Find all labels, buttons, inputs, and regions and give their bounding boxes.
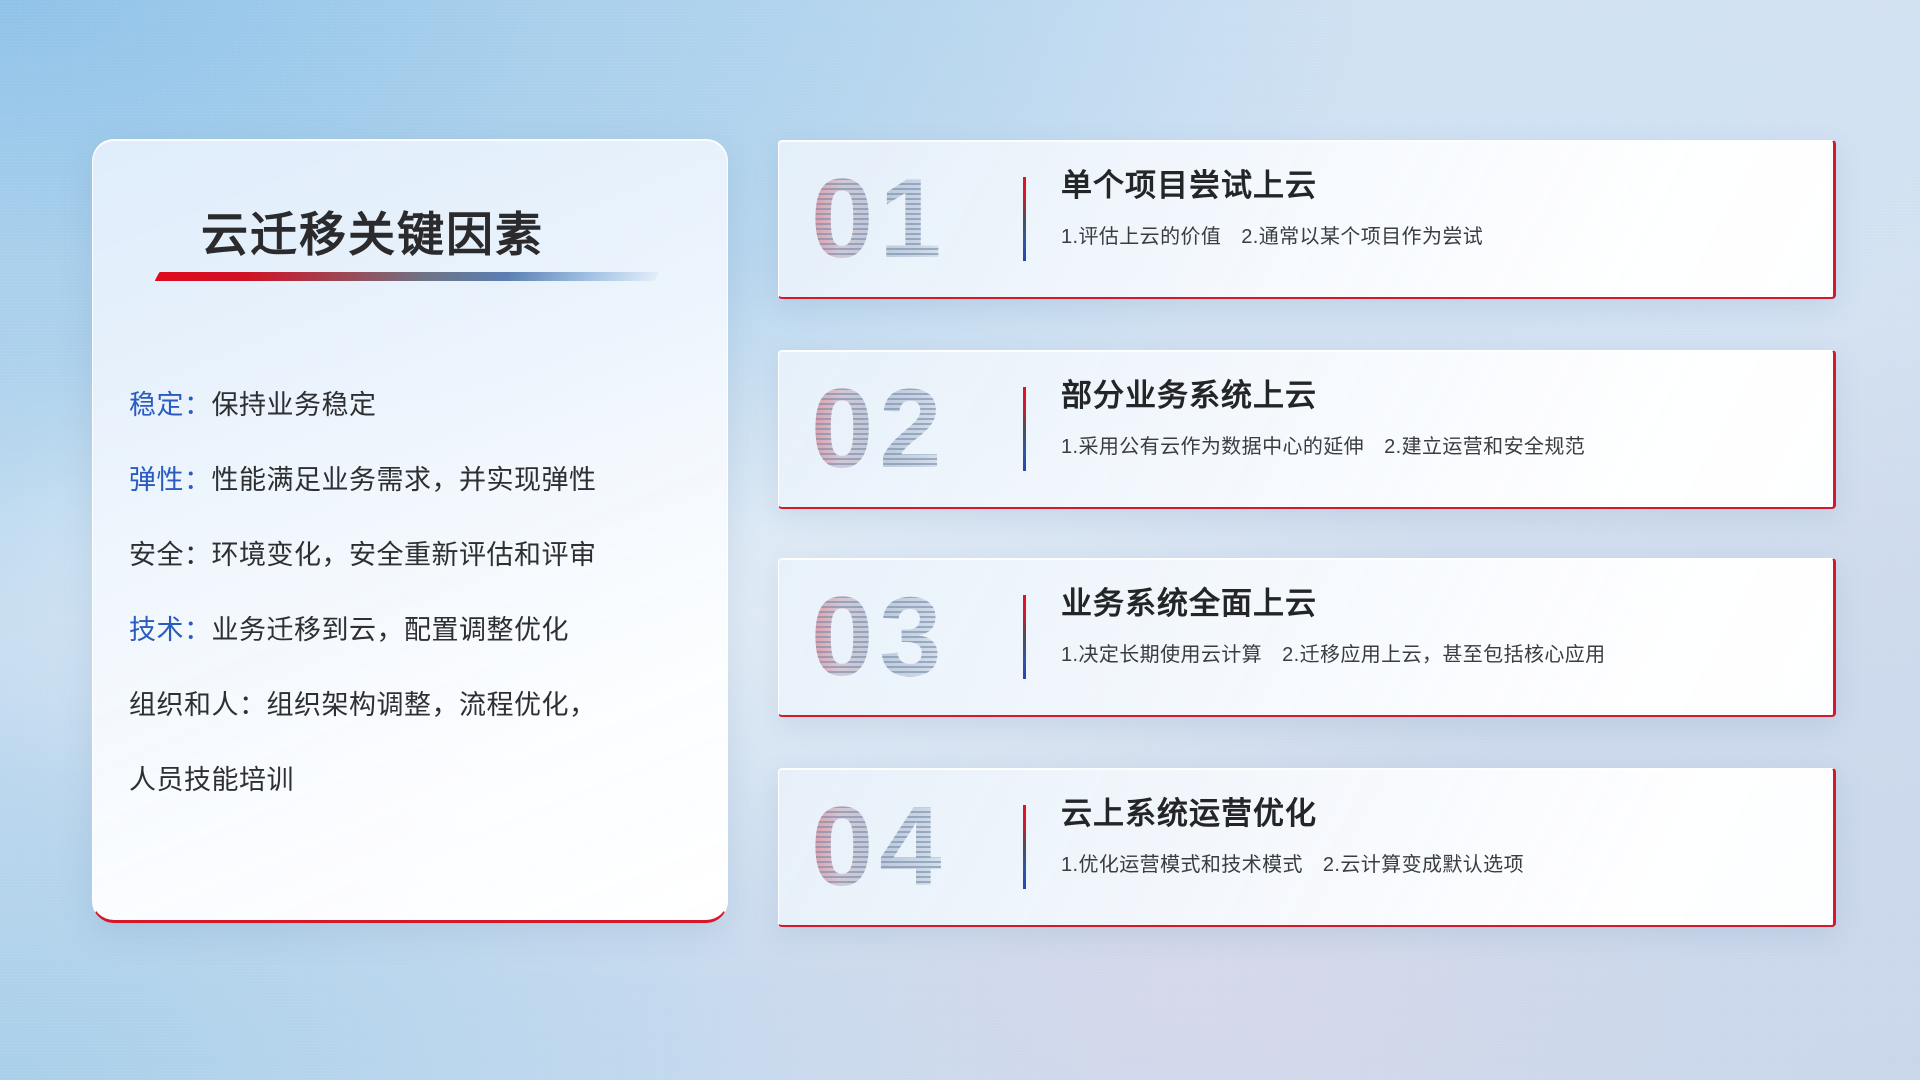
step-divider-line bbox=[1023, 177, 1026, 261]
list-item: 稳定：保持业务稳定 bbox=[129, 368, 701, 443]
factor-key: 稳定： bbox=[129, 390, 212, 420]
step-subtitle: 1.优化运营模式和技术模式2.云计算变成默认选项 bbox=[1061, 848, 1799, 877]
step-point-2: 2.迁移应用上云，甚至包括核心应用 bbox=[1282, 644, 1605, 666]
step-number-watermark: 04 bbox=[811, 791, 948, 903]
step-point-1: 1.采用公有云作为数据中心的延伸 bbox=[1061, 436, 1364, 458]
list-item: 弹性：性能满足业务需求，并实现弹性 bbox=[129, 443, 701, 518]
step-card-01[interactable]: 01 单个项目尝试上云 1.评估上云的价值2.通常以某个项目作为尝试 bbox=[778, 140, 1836, 299]
step-divider-line bbox=[1023, 805, 1026, 889]
step-divider-line bbox=[1023, 387, 1026, 471]
list-item: 安全：环境变化，安全重新评估和评审 bbox=[129, 518, 701, 593]
page-title: 云迁移关键因素 bbox=[201, 196, 544, 265]
step-title: 云上系统运营优化 bbox=[1061, 795, 1799, 834]
factor-value: 性能满足业务需求，并实现弹性 bbox=[212, 465, 597, 495]
step-text-block: 业务系统全面上云 1.决定长期使用云计算2.迁移应用上云，甚至包括核心应用 bbox=[1061, 585, 1799, 667]
title-underline-rule bbox=[155, 272, 660, 281]
factor-value: 业务迁移到云，配置调整优化 bbox=[212, 615, 570, 645]
slide-stage: 云迁移关键因素 稳定：保持业务稳定 弹性：性能满足业务需求，并实现弹性 安全：环… bbox=[0, 0, 1920, 1080]
factor-value: 人员技能培训 bbox=[129, 765, 294, 795]
step-subtitle: 1.采用公有云作为数据中心的延伸2.建立运营和安全规范 bbox=[1061, 430, 1799, 459]
step-point-2: 2.通常以某个项目作为尝试 bbox=[1241, 226, 1483, 248]
step-text-block: 部分业务系统上云 1.采用公有云作为数据中心的延伸2.建立运营和安全规范 bbox=[1061, 377, 1799, 459]
step-point-1: 1.决定长期使用云计算 bbox=[1061, 644, 1262, 666]
step-subtitle: 1.决定长期使用云计算2.迁移应用上云，甚至包括核心应用 bbox=[1061, 638, 1799, 667]
step-number-watermark: 03 bbox=[811, 581, 948, 693]
step-point-2: 2.建立运营和安全规范 bbox=[1384, 436, 1585, 458]
step-number-watermark: 02 bbox=[811, 373, 948, 485]
list-item: 技术：业务迁移到云，配置调整优化 bbox=[129, 593, 701, 668]
list-item: 人员技能培训 bbox=[129, 743, 701, 818]
step-point-2: 2.云计算变成默认选项 bbox=[1323, 854, 1524, 876]
step-number-watermark: 01 bbox=[811, 163, 948, 275]
factor-value: 环境变化，安全重新评估和评审 bbox=[212, 540, 597, 570]
step-card-04[interactable]: 04 云上系统运营优化 1.优化运营模式和技术模式2.云计算变成默认选项 bbox=[778, 768, 1836, 927]
step-title: 部分业务系统上云 bbox=[1061, 377, 1799, 416]
factor-value: 组织架构调整，流程优化， bbox=[267, 690, 597, 720]
step-subtitle: 1.评估上云的价值2.通常以某个项目作为尝试 bbox=[1061, 220, 1799, 249]
factor-key: 安全： bbox=[129, 540, 212, 570]
step-text-block: 云上系统运营优化 1.优化运营模式和技术模式2.云计算变成默认选项 bbox=[1061, 795, 1799, 877]
factor-key: 组织和人： bbox=[129, 690, 267, 720]
step-card-02[interactable]: 02 部分业务系统上云 1.采用公有云作为数据中心的延伸2.建立运营和安全规范 bbox=[778, 350, 1836, 509]
step-card-03[interactable]: 03 业务系统全面上云 1.决定长期使用云计算2.迁移应用上云，甚至包括核心应用 bbox=[778, 558, 1836, 717]
factor-key: 技术： bbox=[129, 615, 212, 645]
step-title: 单个项目尝试上云 bbox=[1061, 167, 1799, 206]
step-title: 业务系统全面上云 bbox=[1061, 585, 1799, 624]
step-text-block: 单个项目尝试上云 1.评估上云的价值2.通常以某个项目作为尝试 bbox=[1061, 167, 1799, 249]
factor-value: 保持业务稳定 bbox=[212, 390, 377, 420]
step-point-1: 1.优化运营模式和技术模式 bbox=[1061, 854, 1303, 876]
step-divider-line bbox=[1023, 595, 1026, 679]
step-point-1: 1.评估上云的价值 bbox=[1061, 226, 1221, 248]
factor-list: 稳定：保持业务稳定 弹性：性能满足业务需求，并实现弹性 安全：环境变化，安全重新… bbox=[129, 368, 701, 818]
list-item: 组织和人：组织架构调整，流程优化， bbox=[129, 668, 701, 743]
key-factors-panel: 云迁移关键因素 稳定：保持业务稳定 弹性：性能满足业务需求，并实现弹性 安全：环… bbox=[92, 139, 728, 923]
factor-key: 弹性： bbox=[129, 465, 212, 495]
